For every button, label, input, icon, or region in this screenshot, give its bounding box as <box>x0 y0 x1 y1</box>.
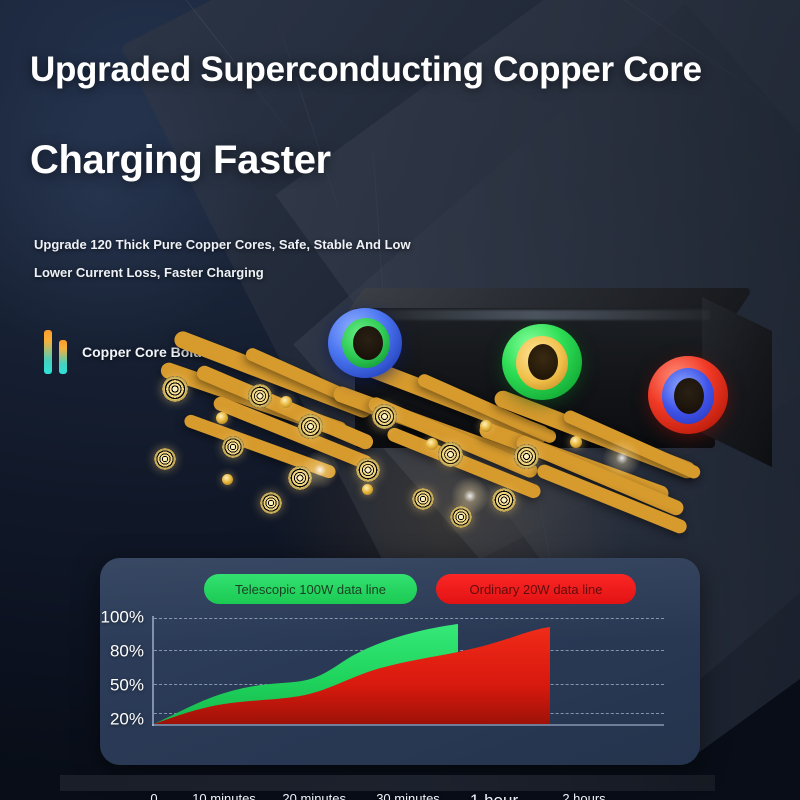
x-tick-0: 0 <box>150 791 157 800</box>
legend-item-ordinary-20w[interactable]: Ordinary 20W data line <box>436 574 636 604</box>
chart-curves <box>152 616 664 726</box>
x-tick-20-minutes: 20 minutes. <box>282 791 349 800</box>
legend-item-telescopic-100w[interactable]: Telescopic 100W data line <box>204 574 417 604</box>
charging-speed-chart: Telescopic 100W data line Ordinary 20W d… <box>100 558 700 765</box>
y-tick-20: 20% <box>110 710 144 730</box>
strand-tip <box>216 412 228 424</box>
strand-cross-section <box>450 506 472 528</box>
strand-cross-section <box>298 414 323 439</box>
strand-cross-section <box>248 384 272 408</box>
strand-tip <box>570 436 582 448</box>
strand-tip <box>362 484 373 495</box>
x-tick-10-minutes: 10 minutes <box>192 791 256 800</box>
strand-tip <box>280 396 292 408</box>
cable-jacket-green-opening <box>528 344 558 380</box>
promo-banner: Upgraded Superconducting Copper Core Cha… <box>0 0 800 800</box>
y-tick-50: 50% <box>110 676 144 696</box>
strand-cross-section <box>514 444 539 469</box>
strand-cross-section <box>162 376 188 402</box>
bottom-divider-bar <box>60 775 715 791</box>
strand-cross-section <box>154 448 176 470</box>
strand-cross-section <box>372 404 397 429</box>
headline: Upgraded Superconducting Copper Core <box>30 50 702 90</box>
description-line-1: Upgrade 120 Thick Pure Copper Cores, Saf… <box>34 237 411 252</box>
y-tick-100: 100% <box>101 608 144 628</box>
strand-cross-section <box>492 488 516 512</box>
description-line-2: Lower Current Loss, Faster Charging <box>34 265 264 280</box>
y-tick-80: 80% <box>110 642 144 662</box>
cable-jacket-blue-opening <box>353 326 383 360</box>
subheadline: Charging Faster <box>30 138 331 183</box>
strand-cross-section <box>356 458 380 482</box>
x-tick-1-hour: 1 hour <box>470 791 518 800</box>
strand-cross-section <box>222 436 244 458</box>
chart-plot-area: 100% 80% 50% 20% <box>152 616 664 726</box>
strand-cross-section <box>438 442 463 467</box>
device-edge-highlight <box>360 310 710 320</box>
x-tick-2-hours: 2 hours <box>562 791 605 800</box>
product-image <box>150 280 770 580</box>
x-tick-30-minutes: 30 minutes <box>376 791 440 800</box>
bar-chart-icon <box>44 330 70 374</box>
strand-cross-section <box>412 488 434 510</box>
strand-tip <box>480 420 492 432</box>
strand-cross-section <box>260 492 282 514</box>
cable-jacket-red-opening <box>674 378 704 414</box>
strand-tip <box>426 438 438 450</box>
strand-cross-section <box>288 466 312 490</box>
strand-tip <box>222 474 233 485</box>
chart-legend: Telescopic 100W data line Ordinary 20W d… <box>100 574 700 604</box>
